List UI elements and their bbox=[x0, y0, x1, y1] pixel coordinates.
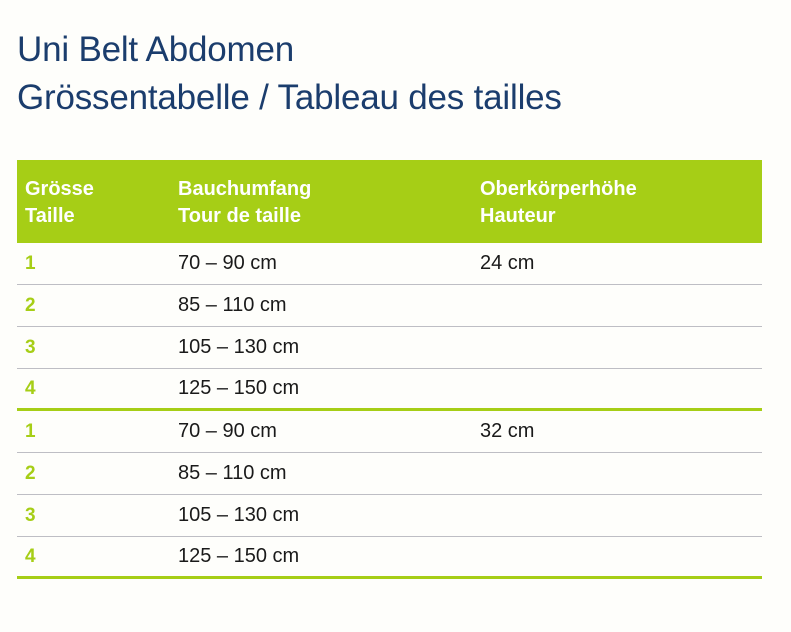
cell-circumference: 125 – 150 cm bbox=[178, 545, 480, 568]
cell-circumference: 105 – 130 cm bbox=[178, 336, 480, 359]
cell-size: 1 bbox=[17, 253, 178, 275]
table-row: 4 125 – 150 cm bbox=[17, 369, 762, 411]
column-header-height: Oberkörperhöhe Hauteur bbox=[480, 176, 762, 230]
size-table: Grösse Taille Bauchumfang Tour de taille… bbox=[17, 160, 762, 579]
page-title: Uni Belt Abdomen Grössentabelle / Tablea… bbox=[17, 26, 757, 122]
table-row: 4 125 – 150 cm bbox=[17, 537, 762, 579]
cell-size: 1 bbox=[17, 421, 178, 443]
cell-circumference: 85 – 110 cm bbox=[178, 294, 480, 317]
table-row: 1 70 – 90 cm 24 cm bbox=[17, 243, 762, 285]
cell-size: 2 bbox=[17, 463, 178, 485]
column-header-size: Grösse Taille bbox=[17, 176, 178, 230]
cell-size: 4 bbox=[17, 378, 178, 400]
cell-circumference: 125 – 150 cm bbox=[178, 377, 480, 400]
cell-circumference: 70 – 90 cm bbox=[178, 420, 480, 443]
size-chart-page: Uni Belt Abdomen Grössentabelle / Tablea… bbox=[0, 0, 791, 632]
cell-circumference: 85 – 110 cm bbox=[178, 462, 480, 485]
table-body: 1 70 – 90 cm 24 cm 2 85 – 110 cm 3 105 –… bbox=[17, 243, 762, 579]
cell-size: 2 bbox=[17, 295, 178, 317]
table-row: 2 85 – 110 cm bbox=[17, 285, 762, 327]
table-row: 3 105 – 130 cm bbox=[17, 327, 762, 369]
title-line-product: Uni Belt Abdomen bbox=[17, 26, 757, 74]
cell-height: 24 cm bbox=[480, 252, 762, 275]
column-header-circumference: Bauchumfang Tour de taille bbox=[178, 176, 480, 230]
title-line-subtitle: Grössentabelle / Tableau des tailles bbox=[17, 74, 757, 122]
cell-circumference: 70 – 90 cm bbox=[178, 252, 480, 275]
cell-size: 3 bbox=[17, 337, 178, 359]
table-row: 2 85 – 110 cm bbox=[17, 453, 762, 495]
cell-circumference: 105 – 130 cm bbox=[178, 504, 480, 527]
cell-height: 32 cm bbox=[480, 420, 762, 443]
table-header-row: Grösse Taille Bauchumfang Tour de taille… bbox=[17, 160, 762, 243]
table-row: 1 70 – 90 cm 32 cm bbox=[17, 411, 762, 453]
table-row: 3 105 – 130 cm bbox=[17, 495, 762, 537]
cell-size: 3 bbox=[17, 505, 178, 527]
cell-size: 4 bbox=[17, 546, 178, 568]
